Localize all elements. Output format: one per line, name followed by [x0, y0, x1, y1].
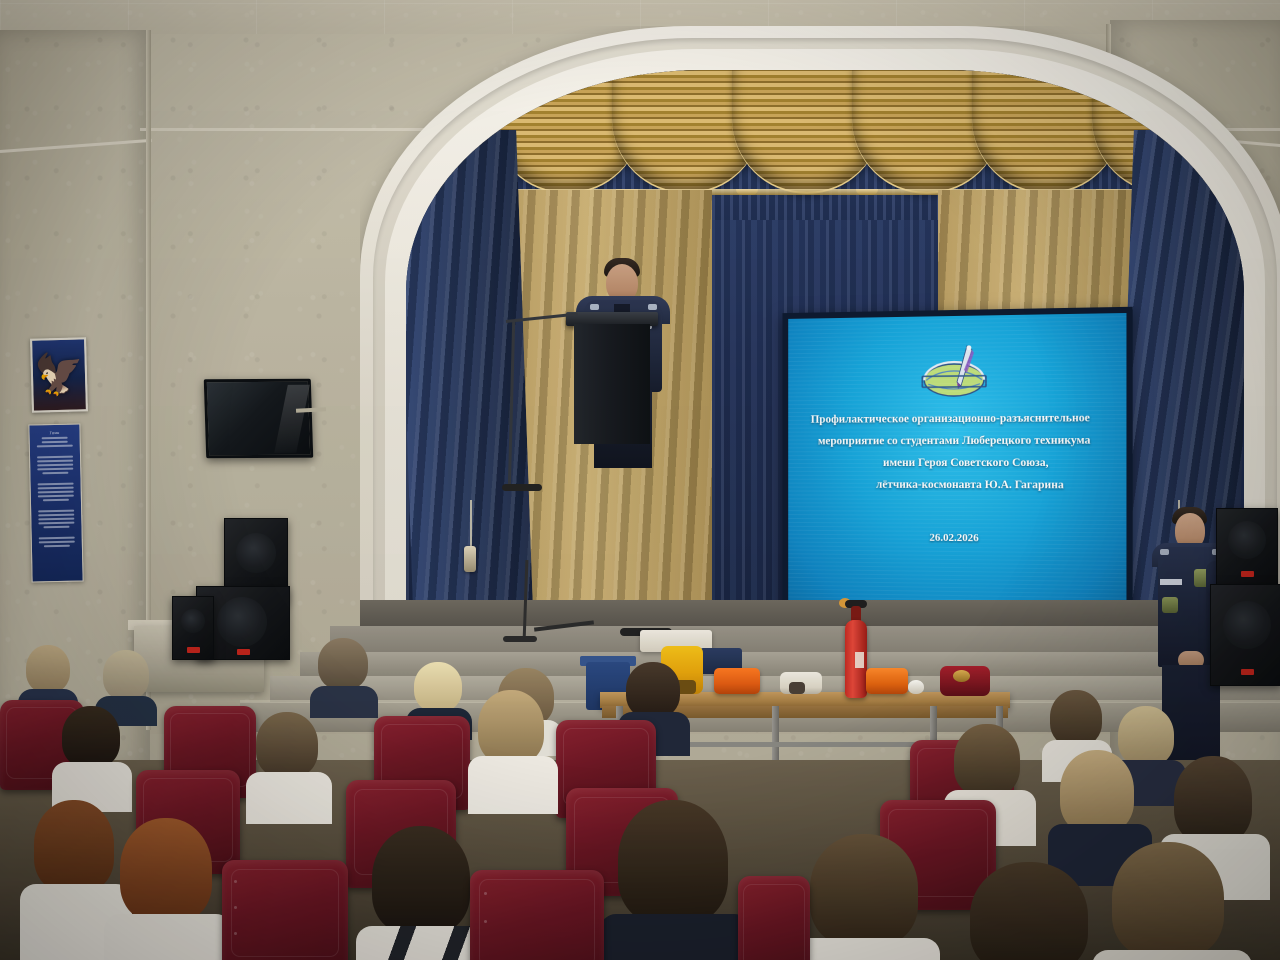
audience-person: [52, 706, 132, 806]
audience-person: [104, 818, 232, 960]
slide-line-3: имени Героя Советского Союза,: [815, 452, 1120, 474]
audience-head: [62, 706, 120, 768]
eagle-glyph: 🦅: [34, 354, 85, 395]
audience-head: [1060, 750, 1134, 834]
audience-shoulders: [246, 772, 332, 824]
audience-head: [1174, 756, 1252, 844]
speaker-driver-cone: [236, 533, 276, 573]
audience-shoulders: [600, 914, 750, 960]
jbl-badge-icon: [1241, 571, 1254, 577]
audience-head: [478, 690, 544, 764]
coat-of-arms-lyubertsy-icon: 🦅: [30, 337, 88, 412]
slide-text-block: Профилактическое организационно-разъясни…: [788, 407, 1126, 497]
microphone-stand-base: [502, 484, 542, 491]
orange-rescue-bag: [866, 668, 908, 694]
floor-microphone-base: [503, 636, 537, 642]
audience-person: [468, 690, 558, 810]
speaker-driver-cone: [1223, 601, 1271, 649]
audience-head: [372, 826, 470, 934]
officer-epaulette: [1160, 549, 1169, 555]
slide-line-4: лётчика-космонавта Ю.А. Гагарина: [823, 474, 1120, 497]
jbl-badge-icon: [1241, 669, 1254, 675]
curtain-tieback: [464, 546, 476, 572]
speaker-podium: [574, 324, 650, 444]
extinguisher-label: [855, 652, 864, 668]
auditorium-photo: 🦅 Гимн: [0, 0, 1280, 960]
audience-head: [318, 638, 368, 690]
audience-person: [1092, 842, 1252, 960]
audience-shoulders: [1092, 950, 1252, 960]
proscenium-arch: Профилактическое организационно-разъясни…: [360, 26, 1280, 686]
anthem-poster-title: Гимн: [33, 430, 75, 436]
stage-opening: Профилактическое организационно-разъясни…: [406, 70, 1244, 686]
slide-line-2: мероприятие со студентами Люберецкого те…: [790, 429, 1120, 452]
speaker-driver-cone: [1228, 521, 1266, 559]
audience-head: [1112, 842, 1224, 958]
red-gear-disc: [953, 670, 970, 682]
wall-mounted-tv-off: [204, 379, 314, 459]
audience-head: [810, 834, 918, 946]
pa-speaker-right-top: [1216, 508, 1278, 586]
gagarin-monument-globe-emblem-icon: [912, 339, 996, 398]
audience-shoulders: [468, 756, 558, 814]
speaker-epaulette: [648, 304, 657, 310]
audience-head: [120, 818, 212, 922]
audience-head: [618, 800, 728, 924]
jbl-badge-icon: [187, 647, 200, 653]
audience-head: [103, 650, 149, 700]
tv-screen-glare: [274, 385, 310, 453]
white-helmet: [908, 680, 924, 694]
speaker-driver-cone: [217, 597, 267, 647]
pa-speaker-left-small: [172, 596, 214, 660]
orange-rescue-bag: [714, 668, 760, 694]
audience-person: [790, 834, 940, 960]
audience-head: [954, 724, 1020, 796]
audience-person: [310, 638, 378, 714]
audience-head: [256, 712, 318, 778]
audience-shoulders: [790, 938, 940, 960]
audience-person: [600, 800, 750, 960]
officer-name-tag: [1160, 579, 1182, 585]
curtain-tieback-cord: [470, 500, 472, 548]
officer-chest-patch: [1162, 597, 1178, 613]
projection-screen: Профилактическое организационно-разъясни…: [788, 313, 1126, 619]
speaker-driver-cone: [181, 609, 205, 633]
audience-person: [246, 712, 332, 818]
slide-date: 26.02.2026: [788, 531, 1126, 546]
audience-shoulders: [104, 914, 232, 960]
pa-speaker-right-bottom: [1210, 584, 1280, 686]
audience-head: [1050, 690, 1102, 746]
speaker-epaulette: [590, 304, 599, 310]
audience-head: [34, 800, 114, 892]
theater-seat[interactable]: [738, 876, 810, 960]
projection-screen-frame: Профилактическое организационно-разъясни…: [782, 307, 1132, 626]
anthem-poster: Гимн: [28, 423, 83, 582]
jbl-badge-icon: [237, 649, 250, 655]
audience-head: [26, 645, 70, 693]
slide-line-1: Профилактическое организационно-разъясни…: [788, 407, 1120, 431]
audience-head: [414, 662, 462, 712]
audience-head: [970, 862, 1088, 960]
theater-seat[interactable]: [470, 870, 604, 960]
audience-head: [626, 662, 680, 718]
white-gear-shadow: [789, 682, 805, 694]
theater-seat[interactable]: [222, 860, 348, 960]
